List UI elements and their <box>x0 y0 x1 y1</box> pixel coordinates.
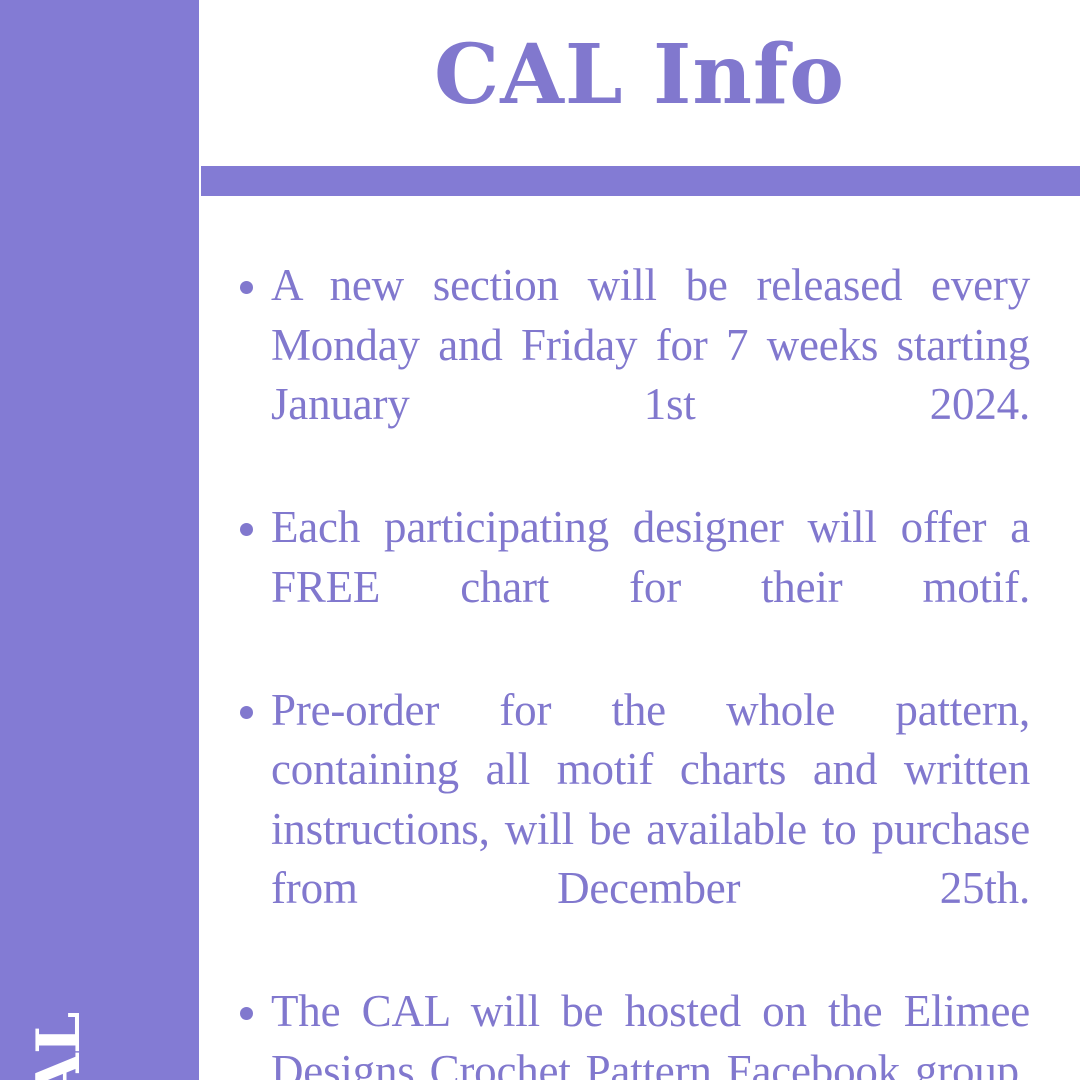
list-item: Each participating designer will offer a… <box>240 498 1030 677</box>
bullet-dot-icon <box>240 1007 253 1020</box>
poster-canvas: Beautiful Bugs Blanket CAL hosted by Eli… <box>0 0 1080 1080</box>
list-item-text: Each participating designer will offer a… <box>271 498 1030 677</box>
list-item-text: The CAL will be hosted on the Elimee Des… <box>271 982 1030 1080</box>
bullet-dot-icon <box>240 523 253 536</box>
main-content: CAL Info A new section will be released … <box>199 0 1080 1080</box>
bullet-dot-icon <box>240 706 253 719</box>
page-title: CAL Info <box>199 30 1080 122</box>
list-item: A new section will be released every Mon… <box>240 256 1030 494</box>
list-item-text: A new section will be released every Mon… <box>271 256 1030 494</box>
list-item-text: Pre-order for the whole pattern, contain… <box>271 681 1030 979</box>
info-bullet-list: A new section will be released every Mon… <box>240 256 1030 1080</box>
sidebar-band: Beautiful Bugs Blanket CAL hosted by Eli… <box>0 0 199 1080</box>
sidebar-title: Beautiful Bugs Blanket CAL <box>0 962 118 1080</box>
sidebar-subtitle: hosted by Elimee Designs <box>116 1014 182 1080</box>
header-divider-bar <box>201 166 1080 196</box>
list-item: Pre-order for the whole pattern, contain… <box>240 681 1030 979</box>
bullet-dot-icon <box>240 281 253 294</box>
list-item: The CAL will be hosted on the Elimee Des… <box>240 982 1030 1080</box>
